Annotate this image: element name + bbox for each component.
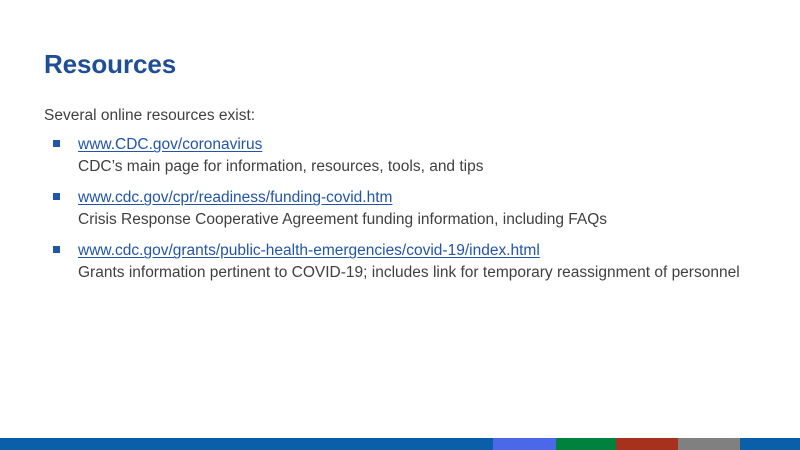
list-item: www.cdc.gov/grants/public-health-emergen…	[44, 240, 744, 284]
resource-link[interactable]: www.CDC.gov/coronavirus	[78, 134, 744, 156]
resource-description: CDC’s main page for information, resourc…	[78, 156, 744, 178]
accent-bar-segment-primary-blue	[0, 438, 493, 450]
intro-text: Several online resources exist:	[44, 105, 744, 127]
list-item: www.cdc.gov/cpr/readiness/funding-covid.…	[44, 187, 744, 231]
resource-description: Crisis Response Cooperative Agreement fu…	[78, 209, 744, 231]
resource-link[interactable]: www.cdc.gov/grants/public-health-emergen…	[78, 240, 744, 262]
resource-description: Grants information pertinent to COVID-19…	[78, 262, 744, 284]
list-item: www.CDC.gov/coronavirus CDC’s main page …	[44, 134, 744, 178]
accent-bar-segment-violet	[493, 438, 556, 450]
accent-bar-segment-gray	[678, 438, 740, 450]
accent-bar-segment-green	[556, 438, 616, 450]
square-bullet-icon	[53, 140, 60, 147]
accent-bar-segment-accent-blue	[740, 438, 800, 450]
resource-list: www.CDC.gov/coronavirus CDC’s main page …	[44, 134, 744, 284]
resource-link[interactable]: www.cdc.gov/cpr/readiness/funding-covid.…	[78, 187, 744, 209]
square-bullet-icon	[53, 193, 60, 200]
page-title: Resources	[44, 50, 176, 80]
square-bullet-icon	[53, 246, 60, 253]
accent-bar-segment-red	[616, 438, 678, 450]
slide-body: Several online resources exist: www.CDC.…	[44, 105, 744, 284]
footer-accent-bar	[0, 438, 800, 450]
slide-canvas: Resources Several online resources exist…	[0, 0, 800, 450]
